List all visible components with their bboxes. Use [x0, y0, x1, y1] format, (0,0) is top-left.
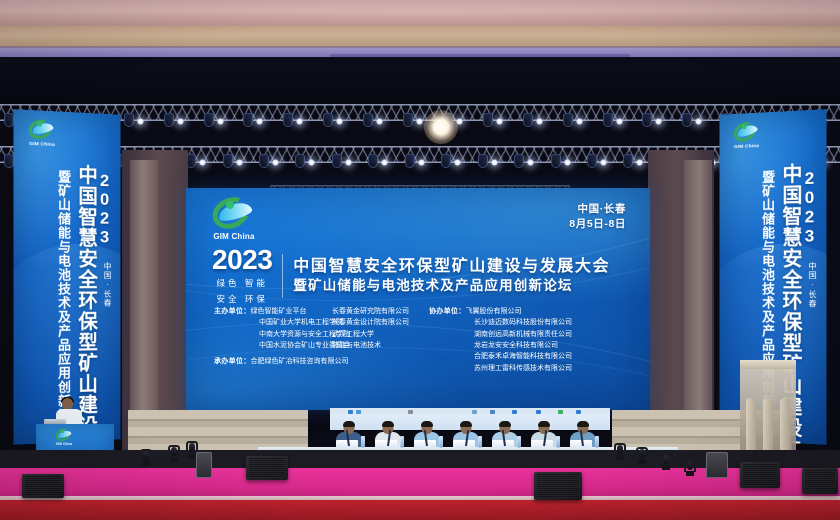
par-light — [576, 118, 583, 125]
par-light — [199, 159, 206, 166]
gim-china-logo-icon: GIM China — [206, 196, 262, 240]
desktop-taskbar — [330, 408, 610, 415]
gim-wordmark: GIM China — [206, 232, 262, 241]
host-col1-item: 中国矿业大学机电工程学院 — [214, 317, 322, 328]
moving-head-fixture — [563, 113, 573, 127]
bright-spotlight-glow — [424, 110, 458, 144]
banner-year-left: 2023 — [96, 171, 113, 246]
par-light — [536, 118, 543, 125]
par-light — [695, 118, 702, 125]
moving-head-light — [660, 450, 672, 470]
water-bottle — [556, 436, 560, 448]
coorganizer-item: 龙岩龙安安全科技有限公司 — [429, 340, 619, 351]
host-col2-item: 储能与电池技术 — [332, 340, 424, 351]
moving-head-fixture — [124, 113, 134, 127]
host-col1-item: 绿色智能矿业平台 — [251, 308, 307, 315]
par-light — [636, 159, 643, 166]
host-label: 主办单位： — [214, 306, 251, 317]
par-light — [564, 159, 571, 166]
par-light — [381, 159, 388, 166]
moving-head-fixture — [483, 113, 493, 127]
par-light — [177, 118, 184, 125]
par-light — [217, 118, 224, 125]
par-light — [308, 159, 315, 166]
taskbar-icon — [356, 410, 361, 414]
taskbar-icon — [536, 410, 541, 414]
screen-title-block: 2023 绿色 智能 安全 环保 中国智慧安全环保型矿山建设与发展大会 暨矿山储… — [212, 246, 610, 306]
taskbar-icon — [490, 410, 495, 414]
screen-year-column: 2023 绿色 智能 安全 环保 — [212, 246, 272, 306]
road-case — [196, 452, 212, 478]
vertical-banner-left: GIM China 2023 中国·长春 中国智慧安全环保型矿山建设与发展大会 … — [14, 109, 121, 445]
taskbar-icon — [512, 410, 517, 414]
moving-head-fixture — [405, 154, 415, 168]
name-placard — [375, 440, 397, 448]
moving-head-fixture — [223, 154, 233, 168]
stone-column-right — [684, 160, 712, 450]
stage-monitor-speaker — [534, 472, 582, 500]
par-light — [137, 118, 144, 125]
par-light — [256, 118, 263, 125]
par-light — [376, 118, 383, 125]
event-title-sub: 暨矿山储能与电池技术及产品应用创新论坛 — [293, 277, 610, 296]
road-case — [706, 452, 728, 478]
moving-head-light — [636, 444, 648, 464]
moving-head-fixture — [295, 154, 305, 168]
par-light — [416, 118, 423, 125]
moving-head-fixture — [4, 113, 14, 127]
coorganizer-item: 长沙迪迈数码科技股份有限公司 — [429, 317, 619, 328]
stage-monitor-speaker — [740, 462, 780, 488]
moving-head-fixture — [332, 154, 342, 168]
taskbar-icon — [558, 410, 563, 414]
moving-head-fixture — [514, 154, 524, 168]
moving-head-fixture — [603, 113, 613, 127]
water-bottle — [595, 436, 599, 448]
stage-light-row-upper — [0, 113, 840, 135]
balustrade-rail — [740, 360, 796, 369]
gim-wordmark: GIM China — [25, 140, 60, 147]
balustrade-right — [740, 360, 796, 460]
screen-title-column: 中国智慧安全环保型矿山建设与发展大会 暨矿山储能与电池技术及产品应用创新论坛 — [293, 256, 610, 296]
coorganizer-item: 飞翼股份有限公司 — [466, 308, 522, 315]
event-slogan-2: 安全 环保 — [212, 293, 272, 306]
moving-head-fixture — [441, 154, 451, 168]
stone-column-left — [130, 160, 158, 450]
gim-wordmark: GIM China — [53, 442, 75, 446]
gim-china-logo-icon: GIM China — [25, 118, 60, 147]
water-bottle — [517, 436, 521, 448]
host-section: 主办单位：绿色智能矿业平台 中国矿业大学机电工程学院 中南大学资源与安全工程学院… — [214, 306, 429, 374]
par-light — [527, 159, 534, 166]
organizer-row: 承办单位：合肥绿色矿冶科技咨询有限公司 — [214, 356, 429, 367]
screen-date-block: 中国·长春 8月5日-8日 — [569, 202, 626, 232]
moving-head-fixture — [642, 113, 652, 127]
search-icon — [408, 410, 413, 414]
par-light — [616, 118, 623, 125]
host-col1-item: 中国水泥协会矿山专业委员会 — [214, 340, 322, 351]
coorganizer-label: 协办单位： — [429, 306, 466, 317]
par-light — [491, 159, 498, 166]
dark-ceiling-void — [0, 57, 840, 107]
water-bottle — [361, 436, 365, 448]
banner-city-left: 中国·长春 — [103, 262, 111, 307]
par-light — [336, 118, 343, 125]
banner-logo-left: GIM China — [14, 117, 121, 166]
moving-head-fixture — [363, 113, 373, 127]
event-location: 中国·长春 — [569, 202, 626, 217]
gim-china-logo-icon: GIM China — [53, 428, 75, 446]
water-bottle — [439, 436, 443, 448]
organizer-value: 合肥绿色矿冶科技咨询有限公司 — [251, 358, 349, 365]
moving-head-fixture — [551, 154, 561, 168]
name-placard — [531, 440, 553, 448]
main-led-screen: GIM China 中国·长春 8月5日-8日 2023 绿色 智能 安全 环保… — [186, 188, 650, 410]
par-light — [418, 159, 425, 166]
event-year: 2023 — [212, 246, 272, 274]
organizer-label: 承办单位： — [214, 356, 251, 367]
moving-head-fixture — [682, 113, 692, 127]
moving-head-fixture — [283, 113, 293, 127]
water-bottle — [400, 436, 404, 448]
taskbar-icon — [348, 410, 353, 414]
event-date-range: 8月5日-8日 — [569, 217, 626, 232]
moving-head-fixture — [478, 154, 488, 168]
event-slogan-1: 绿色 智能 — [212, 277, 272, 290]
banner-city-right: 中国·长春 — [808, 262, 816, 309]
red-carpet — [0, 500, 840, 520]
moving-head-light — [140, 446, 152, 466]
moving-head-fixture — [4, 154, 14, 168]
taskbar-icon — [576, 410, 581, 414]
moving-head-light — [614, 440, 626, 460]
coorganizer-item: 苏州理工雷科传感技术有限公司 — [429, 363, 619, 374]
moving-head-fixture — [164, 113, 174, 127]
screen-logo: GIM China — [206, 196, 262, 240]
par-light — [272, 159, 279, 166]
gim-wordmark: GIM China — [730, 143, 764, 150]
par-light — [600, 159, 607, 166]
stage-monitor-speaker — [802, 468, 838, 494]
event-title-main: 中国智慧安全环保型矿山建设与发展大会 — [293, 256, 610, 278]
water-bottle — [478, 436, 482, 448]
ceiling-surface — [0, 0, 840, 28]
host-col2-item: 长春黄金设计院有限公司 — [332, 317, 424, 328]
coorganizer-item: 湖南创远高新机械有限责任公司 — [429, 329, 619, 340]
conference-stage-scene: Reversed projection text GIM China 2023 … — [0, 0, 840, 520]
title-divider — [282, 254, 283, 298]
stage-monitor-speaker — [22, 474, 64, 498]
moving-head-light — [684, 456, 696, 476]
coorganizer-section: 协办单位：飞翼股份有限公司 长沙迪迈数码科技股份有限公司 湖南创远高新机械有限责… — [429, 306, 619, 374]
par-light — [236, 159, 243, 166]
moving-head-fixture — [623, 154, 633, 168]
sponsors-block: 主办单位：绿色智能矿业平台 中国矿业大学机电工程学院 中南大学资源与安全工程学院… — [214, 306, 632, 374]
host-col2-item: 长春黄金研究院有限公司 — [332, 306, 424, 317]
ceiling-beam — [0, 26, 840, 48]
par-light — [345, 159, 352, 166]
host-col1-item: 中南大学资源与安全工程学院 — [214, 329, 322, 340]
moving-head-fixture — [403, 113, 413, 127]
moving-head-fixture — [243, 113, 253, 127]
name-placard — [453, 440, 475, 448]
moving-head-fixture — [259, 154, 269, 168]
host-col2-item: 武汉工程大学 — [332, 329, 424, 340]
par-light — [454, 159, 461, 166]
gim-china-logo-icon: GIM China — [730, 120, 764, 149]
coorganizer-item: 合肥泰禾卓海智能科技有限公司 — [429, 351, 619, 362]
moving-head-fixture — [368, 154, 378, 168]
moving-head-fixture — [323, 113, 333, 127]
par-light — [655, 118, 662, 125]
par-light — [296, 118, 303, 125]
banner-year-right: 2023 — [801, 168, 819, 245]
stage-monitor-speaker — [246, 456, 288, 480]
moving-head-fixture — [523, 113, 533, 127]
banner-logo-right: GIM China — [720, 117, 827, 166]
par-light — [496, 118, 503, 125]
taskbar-icon — [472, 410, 477, 414]
moving-head-fixture — [587, 154, 597, 168]
moving-head-fixture — [204, 113, 214, 127]
moving-head-light — [168, 442, 180, 462]
